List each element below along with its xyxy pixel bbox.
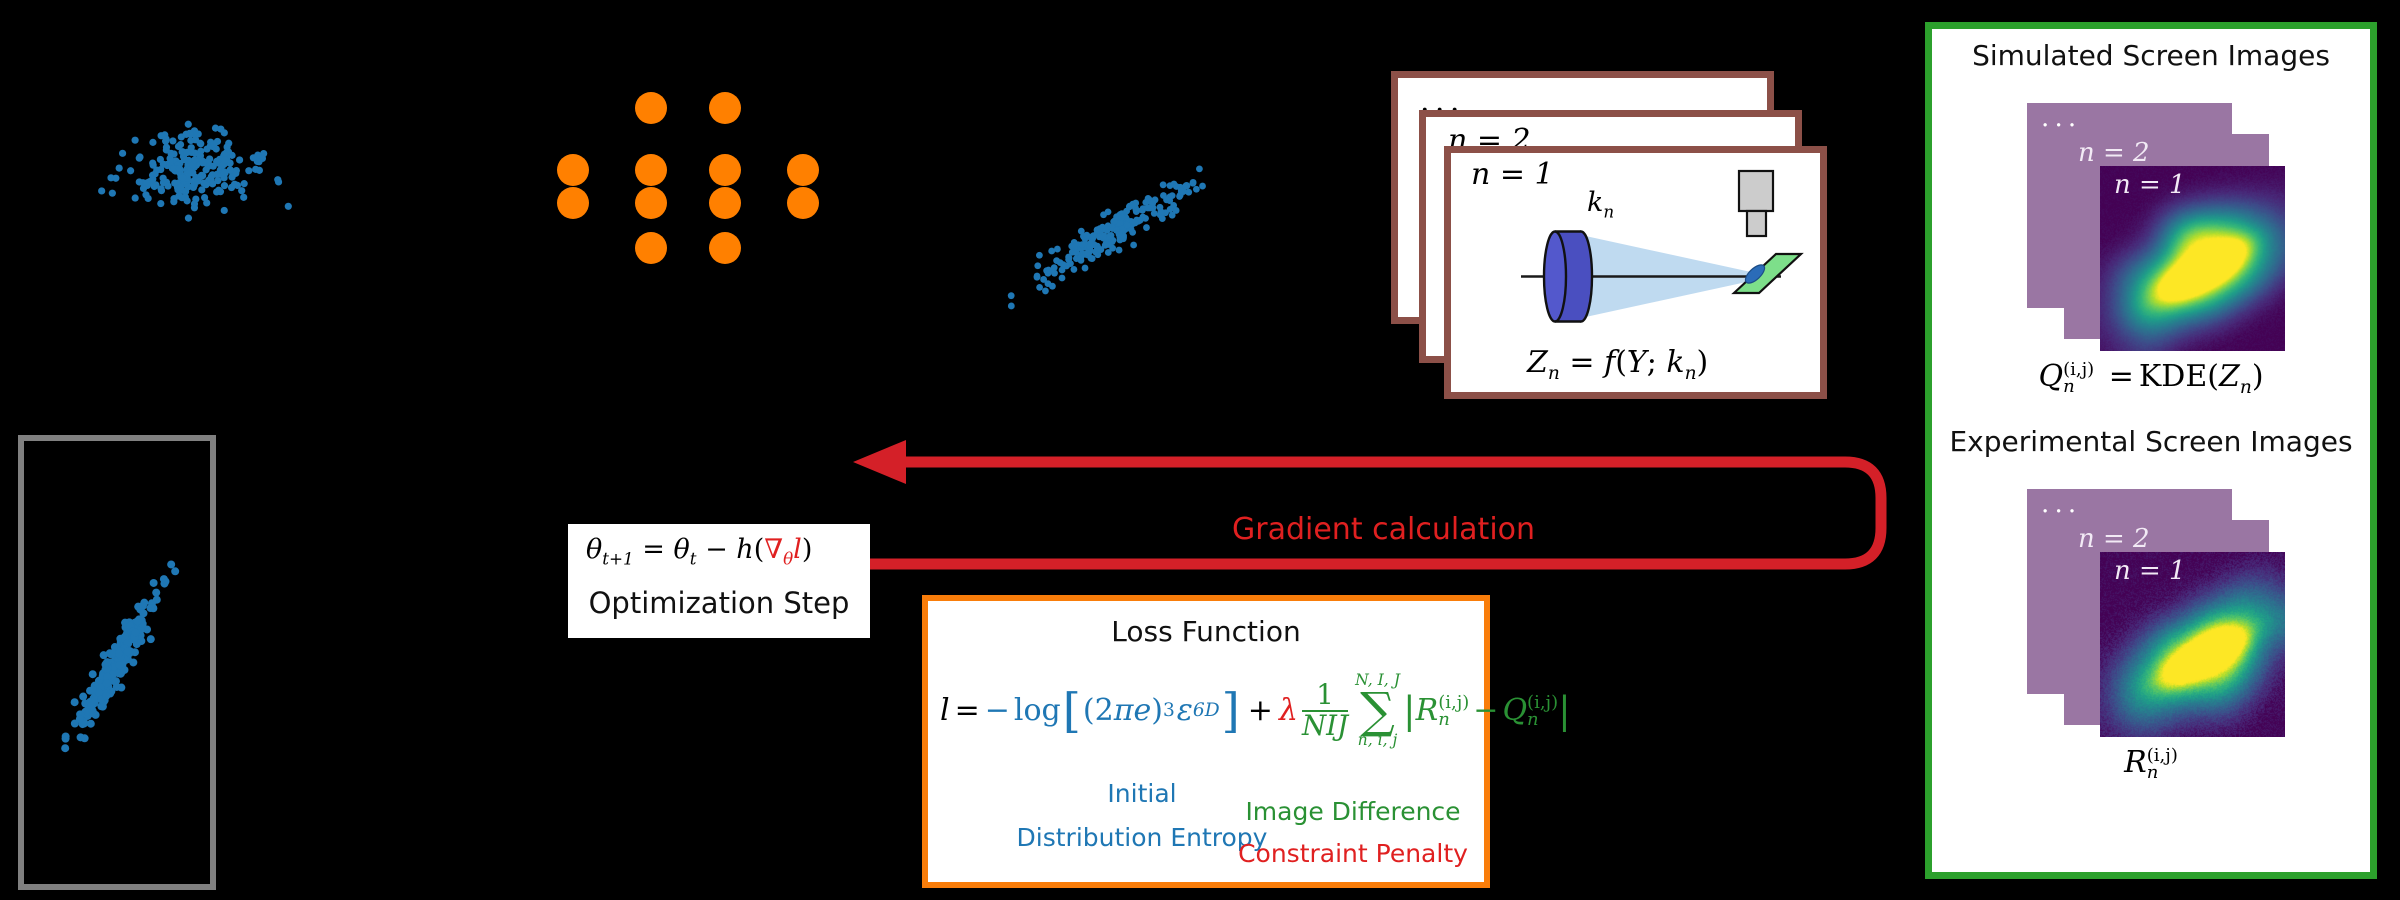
caption-kde: KDE <box>2139 359 2207 394</box>
caption-equals: = <box>2104 359 2139 394</box>
loss-plus: + <box>1242 696 1279 726</box>
opt-loss-var: l <box>793 534 802 565</box>
opt-paren-open: ( <box>754 534 765 565</box>
simulated-screen-images-title: Simulated Screen Images <box>1932 39 2370 72</box>
loss-e: e <box>1133 696 1151 726</box>
loss-lambda: λ <box>1279 696 1298 726</box>
annotation-constraint-penalty: Constraint Penalty <box>1228 839 1478 868</box>
caption-R-sub: n <box>2147 764 2178 781</box>
loss-pi: π <box>1114 696 1134 726</box>
caption-R-scripts: (i,j) n <box>2147 747 2178 781</box>
loss-Q-scripts: (i,j) n <box>1527 694 1558 728</box>
annotation-image-difference: Image Difference <box>1228 797 1478 826</box>
loss-log: log <box>1010 696 1061 726</box>
simulated-card-n2-label: n = 2 <box>2078 138 2150 168</box>
loss-minus: − <box>1469 696 1502 726</box>
opt-minus: − <box>705 534 728 565</box>
loss-var: l <box>940 696 950 726</box>
caption-paren-close: ) <box>2252 359 2264 394</box>
loss-equals: = <box>950 696 985 726</box>
loss-bracket-close: ] <box>1220 688 1242 735</box>
experimental-caption: R (i,j) n <box>1932 745 2370 781</box>
caption-R: R <box>2124 745 2147 780</box>
theta-cur: θ <box>673 534 689 565</box>
gradient-calculation-label: Gradient calculation <box>1232 512 1535 547</box>
loss-function-formula: l = − log [ ( 2 π e )3 ε6D ] + λ 1 NIJ N… <box>940 673 1571 749</box>
loss-fraction-denominator: NIJ <box>1302 710 1348 741</box>
caption-Q: Q <box>2038 359 2063 394</box>
screen-images-panel: Simulated Screen Images ... n = 2 n = 1 … <box>1925 22 2377 879</box>
loss-summation: N, I, J ∑ n, i, j <box>1352 673 1403 749</box>
simulated-card-n1-label: n = 1 <box>2114 170 2186 200</box>
loss-bracket-open: [ <box>1061 688 1083 735</box>
loss-abs-open: | <box>1403 692 1416 730</box>
nabla-icon: ∇ <box>764 534 783 565</box>
loss-R-sub: n <box>1438 711 1469 728</box>
theta-next-sub: t+1 <box>602 548 633 568</box>
loss-function-box[interactable]: Loss Function l = − log [ ( 2 π e )3 ε6D… <box>922 595 1490 888</box>
nabla-sub: θ <box>783 548 793 568</box>
figure-canvas: ... n = 2 n = 1 kn <box>0 0 2400 900</box>
loss-fraction: 1 NIJ <box>1298 681 1352 741</box>
loss-abs-close: | <box>1558 692 1571 730</box>
loss-paren-close: ) <box>1151 696 1163 726</box>
caption-Z: Z <box>2219 359 2240 394</box>
loss-epsilon: ε <box>1175 696 1193 726</box>
caption-Q-sub: n <box>2063 378 2094 395</box>
simulated-card-n1[interactable]: n = 1 <box>2100 166 2285 351</box>
ellipsis-icon: ... <box>2041 103 2081 133</box>
loss-sum-lower-limit: n, i, j <box>1355 733 1400 749</box>
caption-paren-open: ( <box>2207 359 2219 394</box>
ellipsis-icon: ... <box>2041 489 2081 519</box>
loss-paren-open: ( <box>1083 696 1095 726</box>
optimization-formula: θt+1 = θt − h(∇θl) <box>586 536 812 563</box>
simulated-caption: Q (i,j) n =KDE(Zn) <box>1932 359 2370 395</box>
experimental-card-n1[interactable]: n = 1 <box>2100 552 2285 737</box>
experimental-card-n1-label: n = 1 <box>2114 556 2186 586</box>
loss-fraction-numerator: 1 <box>1302 681 1348 710</box>
optimization-step-caption: Optimization Step <box>568 586 870 620</box>
opt-h: h <box>736 534 753 565</box>
theta-cur-sub: t <box>690 548 697 568</box>
theta-next: θ <box>586 534 602 565</box>
loss-Q-sub: n <box>1527 711 1558 728</box>
loss-two: 2 <box>1095 696 1114 726</box>
optimization-step-box[interactable]: θt+1 = θt − h(∇θl) Optimization Step <box>568 524 870 638</box>
opt-paren-close: ) <box>802 534 813 565</box>
loss-function-title: Loss Function <box>928 615 1484 648</box>
experimental-screen-images-title: Experimental Screen Images <box>1932 425 2370 458</box>
caption-Q-scripts: (i,j) n <box>2063 361 2094 395</box>
caption-Z-sub: n <box>2240 377 2252 398</box>
opt-equals: = <box>642 534 665 565</box>
experimental-card-n2-label: n = 2 <box>2078 524 2150 554</box>
sigma-icon: ∑ <box>1355 689 1400 734</box>
annotation-entropy-line1: Initial <box>1052 779 1232 808</box>
loss-Q: Q <box>1502 696 1527 726</box>
loss-R: R <box>1416 696 1439 726</box>
loss-R-scripts: (i,j) n <box>1438 694 1469 728</box>
loss-neg: − <box>985 696 1010 726</box>
